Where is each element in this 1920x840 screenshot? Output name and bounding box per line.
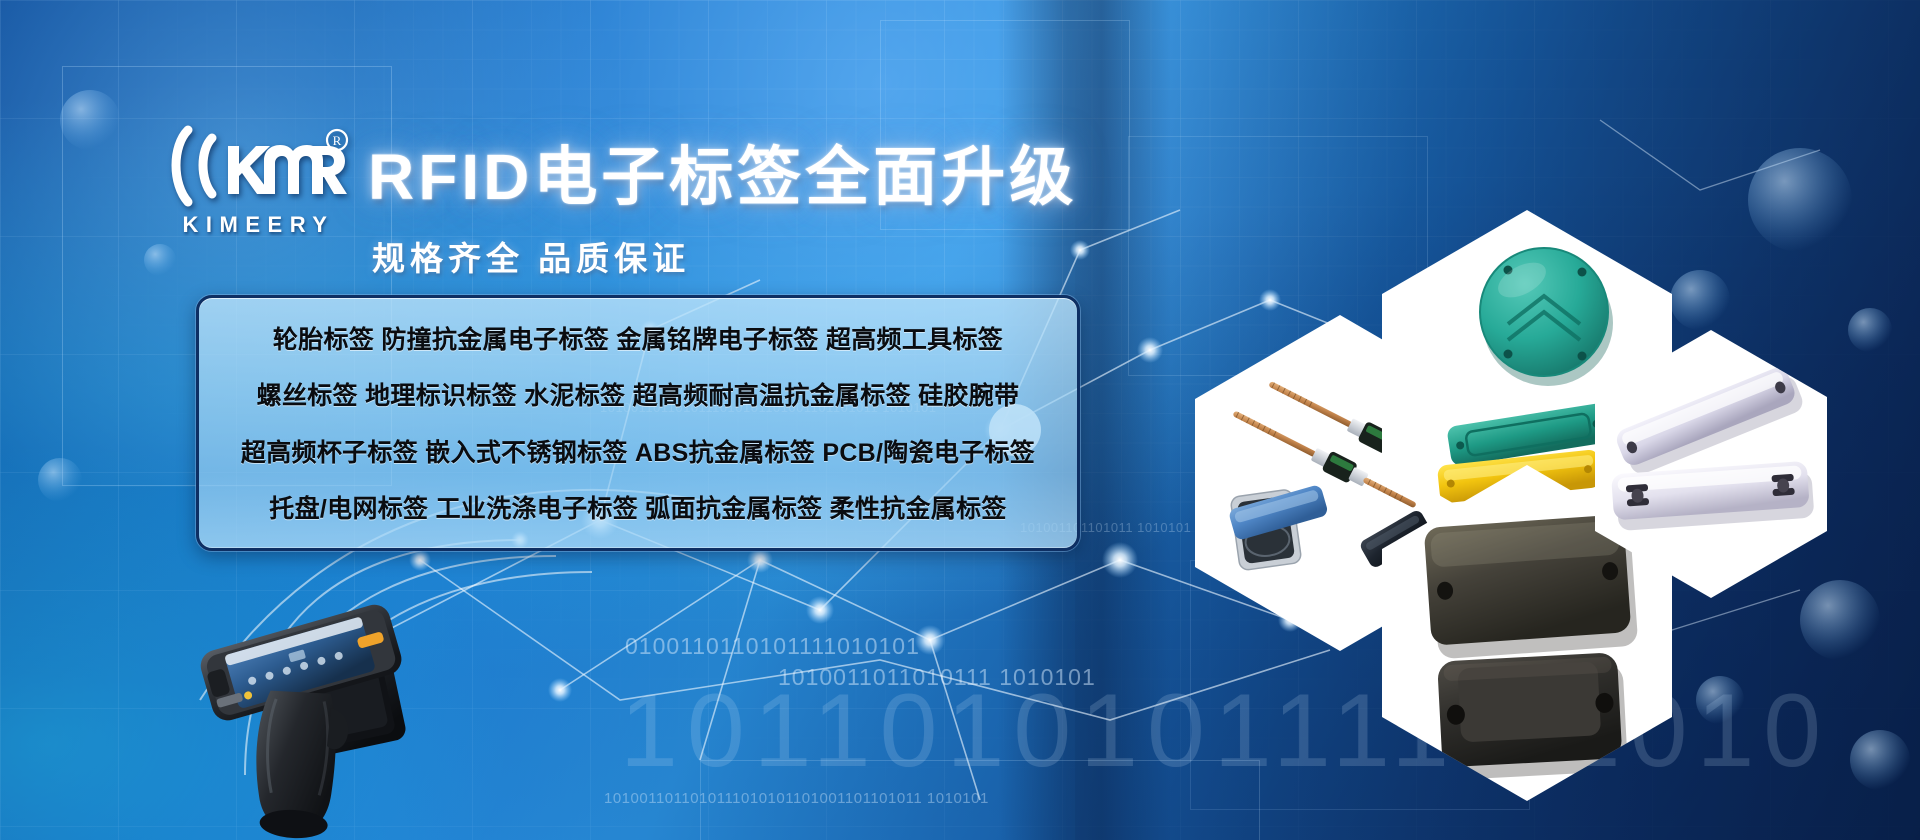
handheld-rfid-reader <box>195 600 445 840</box>
background-binary-line-3: 1010011011010111010101101001101101011 10… <box>604 790 989 807</box>
subheadline-title: 规格齐全 品质保证 <box>372 232 690 280</box>
product-list-row: 超高频杯子标签 嵌入式不锈钢标签 ABS抗金属标签 PCB/陶瓷电子标签 <box>217 440 1059 468</box>
product-list-row: 螺丝标签 地理标识标签 水泥标签 超高频耐高温抗金属标签 硅胶腕带 <box>217 383 1059 411</box>
brand-logo[interactable]: R KIMEERY <box>166 120 351 240</box>
kmr-wave-logo-icon: R <box>166 120 351 212</box>
product-list-row: 轮胎标签 防撞抗金属电子标签 金属铭牌电子标签 超高频工具标签 <box>217 327 1059 355</box>
product-list-row: 托盘/电网标签 工业洗涤电子标签 弧面抗金属标签 柔性抗金属标签 <box>217 496 1059 524</box>
handheld-reader-illustration <box>195 600 445 840</box>
registered-trademark-icon: R <box>327 130 347 150</box>
rfid-promo-banner: 1011010101111 01010 01001101101011110101… <box>0 0 1920 840</box>
headline-title: RFID电子标签全面升级 <box>368 126 1077 218</box>
product-list-panel: 轮胎标签 防撞抗金属电子标签 金属铭牌电子标签 超高频工具标签 螺丝标签 地理标… <box>196 295 1080 551</box>
svg-text:R: R <box>333 133 342 148</box>
background-binary-line-2: 1010011011010111 1010101 <box>778 664 1096 691</box>
background-binary-line-1: 0100110110101111010101 <box>625 633 920 660</box>
brand-wordmark: KIMEERY <box>167 212 350 238</box>
